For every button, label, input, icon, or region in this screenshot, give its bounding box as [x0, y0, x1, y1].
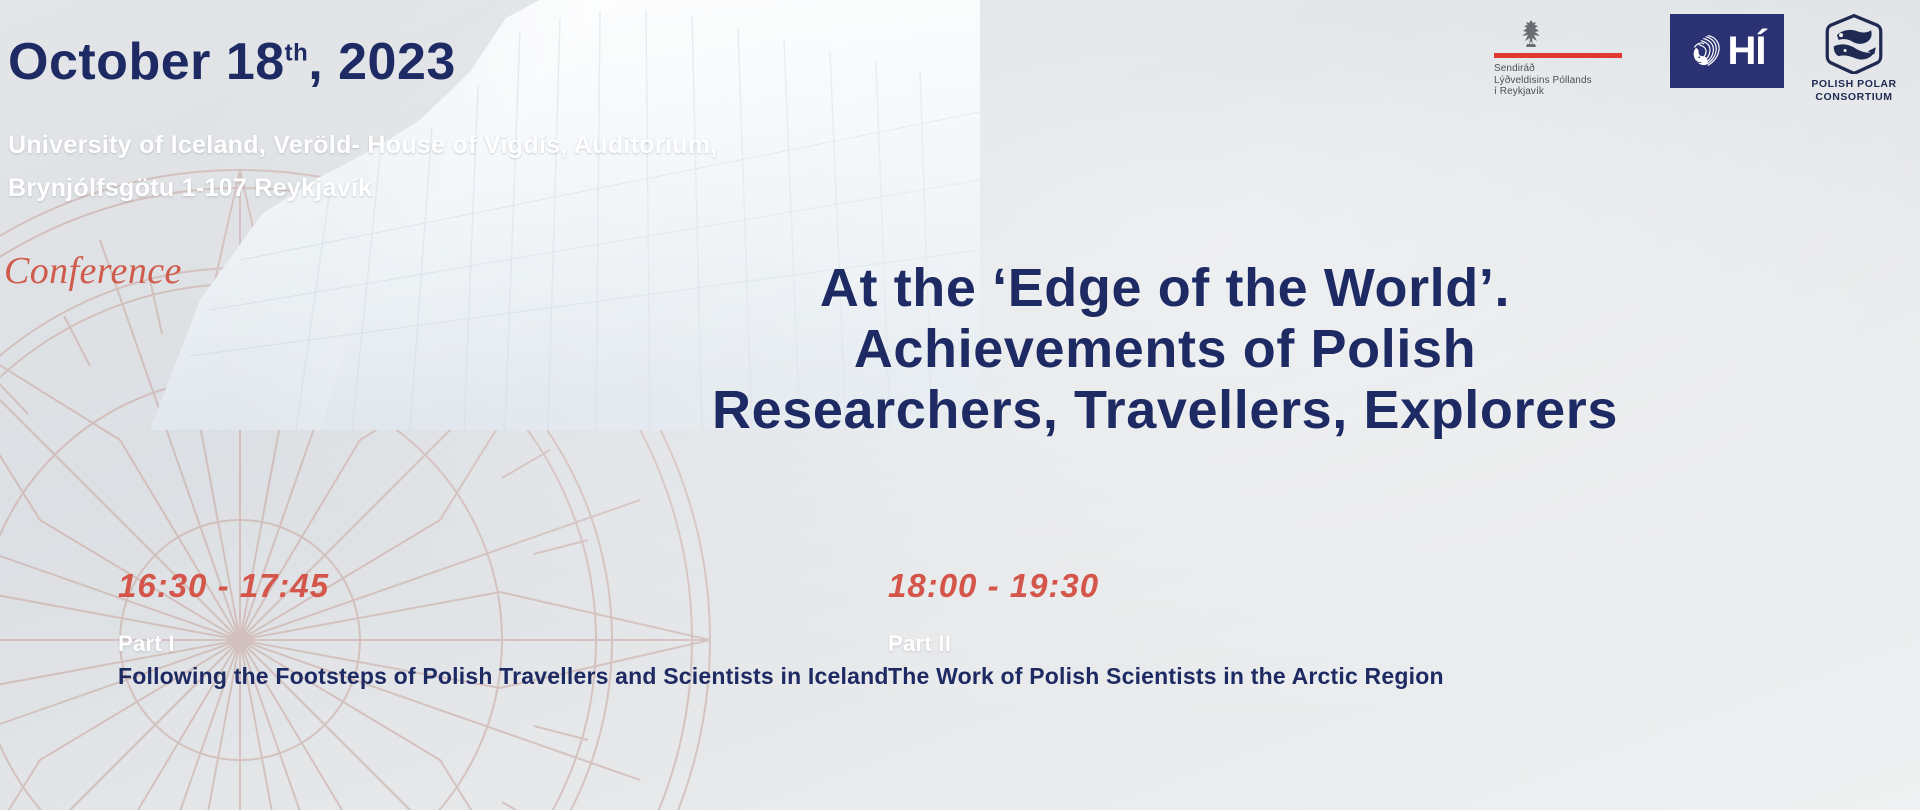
embassy-line-1: Sendiráð — [1494, 63, 1592, 75]
date-suffix: , 2023 — [308, 33, 456, 91]
venue-address: University of Iceland, Veröld- House of … — [8, 124, 1008, 210]
part-1-title: Following the Footsteps of Polish Travel… — [118, 662, 889, 690]
part-2-title: The Work of Polish Scientists in the Arc… — [888, 662, 1444, 690]
university-of-iceland-logo: HÍ — [1670, 14, 1784, 88]
polish-polar-consortium-logo: POLISH POLAR CONSORTIUM — [1810, 14, 1898, 103]
consortium-line-2: CONSORTIUM — [1811, 91, 1896, 104]
venue-line-2: Brynjólfsgötu 1-107 Reykjavík — [8, 167, 1008, 210]
page-title: At the ‘Edge of the World’. Achievements… — [430, 258, 1900, 441]
date-ordinal: th — [285, 40, 309, 67]
date-prefix: October 18 — [8, 33, 285, 91]
polar-bear-shield-icon — [1825, 14, 1883, 74]
programme-part-2: 18:00 - 19:30 Part II The Work of Polish… — [888, 565, 1444, 690]
part-2-label: Part II — [888, 631, 1444, 657]
title-line-2: Achievements of Polish — [430, 319, 1900, 380]
consortium-line-1: POLISH POLAR — [1811, 78, 1896, 91]
consortium-logo-text: POLISH POLAR CONSORTIUM — [1811, 78, 1896, 103]
title-line-1: At the ‘Edge of the World’. — [430, 258, 1900, 319]
part-1-label: Part I — [118, 631, 889, 657]
embassy-red-rule — [1494, 53, 1622, 58]
part-1-time: 16:30 - 17:45 — [118, 565, 889, 607]
event-date: October 18th, 2023 — [8, 32, 456, 92]
hi-abbreviation: HÍ — [1728, 32, 1766, 70]
venue-line-1: University of Iceland, Veröld- House of … — [8, 124, 1008, 167]
polish-eagle-icon — [1516, 18, 1546, 50]
polish-embassy-logo: Sendiráð Lýðveldisins Póllands í Reykjav… — [1494, 14, 1644, 98]
embassy-logo-text: Sendiráð Lýðveldisins Póllands í Reykjav… — [1494, 63, 1592, 98]
conference-poster: Sendiráð Lýðveldisins Póllands í Reykjav… — [0, 0, 1920, 810]
conference-label: Conference — [4, 249, 182, 293]
part-2-time: 18:00 - 19:30 — [888, 565, 1444, 607]
hi-helmet-head-icon — [1689, 32, 1723, 70]
logo-bar: Sendiráð Lýðveldisins Póllands í Reykjav… — [1494, 14, 1898, 103]
embassy-line-3: í Reykjavík — [1494, 86, 1592, 98]
programme-part-1: 16:30 - 17:45 Part I Following the Foots… — [118, 565, 889, 690]
compass-rose-line-art — [0, 120, 740, 810]
title-line-3: Researchers, Travellers, Explorers — [430, 380, 1900, 441]
embassy-line-2: Lýðveldisins Póllands — [1494, 75, 1592, 87]
